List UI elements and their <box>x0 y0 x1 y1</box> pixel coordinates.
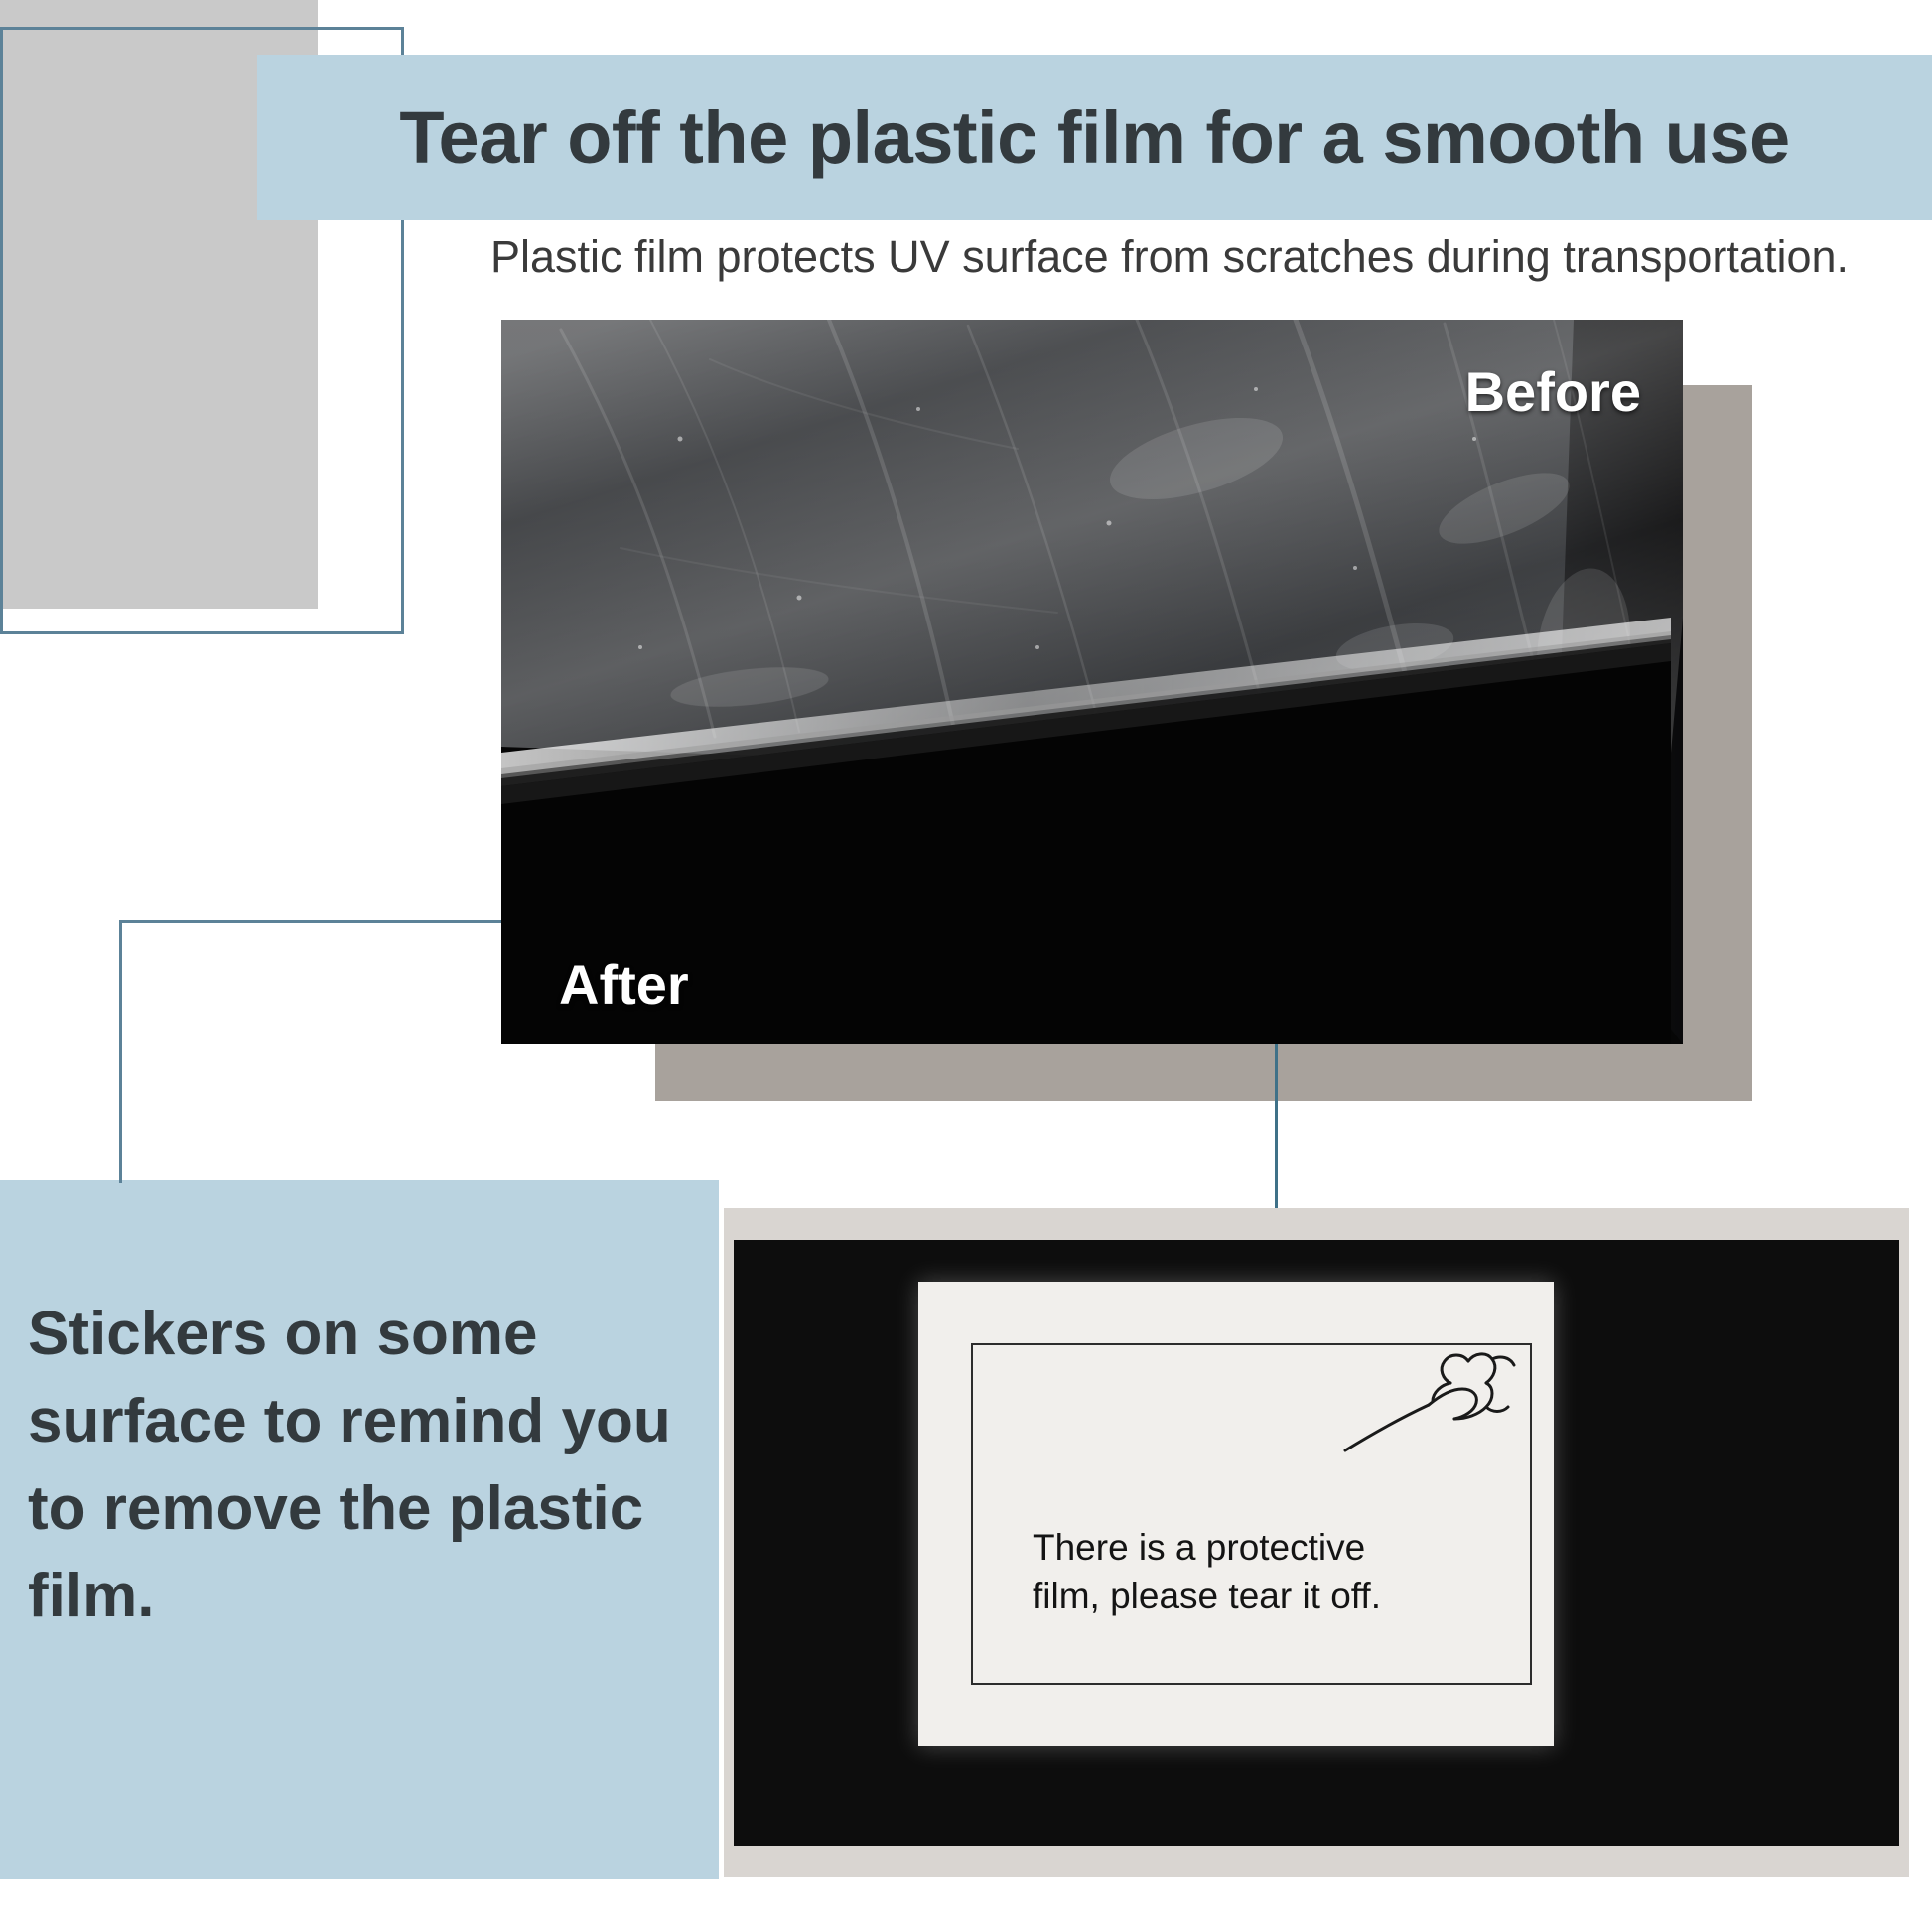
sticker-photo: There is a protective film, please tear … <box>734 1240 1899 1846</box>
sticker-border: There is a protective film, please tear … <box>971 1343 1532 1685</box>
hand-peeling-film-icon <box>1337 1339 1526 1488</box>
sticker-text-line-2: film, please tear it off. <box>1033 1573 1469 1621</box>
label-before: Before <box>1465 359 1641 424</box>
connector-line-vertical-left <box>119 920 122 1183</box>
warning-sticker: There is a protective film, please tear … <box>918 1282 1554 1746</box>
before-after-photo: Before After <box>501 320 1683 1044</box>
sticker-text: There is a protective film, please tear … <box>1033 1524 1469 1621</box>
sticker-caption: Stickers on some surface to remind you t… <box>28 1291 691 1640</box>
sticker-text-line-1: There is a protective <box>1033 1524 1469 1573</box>
connector-line-vertical-middle <box>1275 1023 1278 1211</box>
page-title: Tear off the plastic film for a smooth u… <box>257 55 1932 220</box>
plastic-film-illustration <box>501 320 1683 1044</box>
label-after: After <box>559 952 689 1017</box>
sticker-photo-frame: There is a protective film, please tear … <box>724 1208 1909 1877</box>
infographic-canvas: Tear off the plastic film for a smooth u… <box>0 0 1932 1932</box>
page-subtitle: Plastic film protects UV surface from sc… <box>407 226 1932 288</box>
